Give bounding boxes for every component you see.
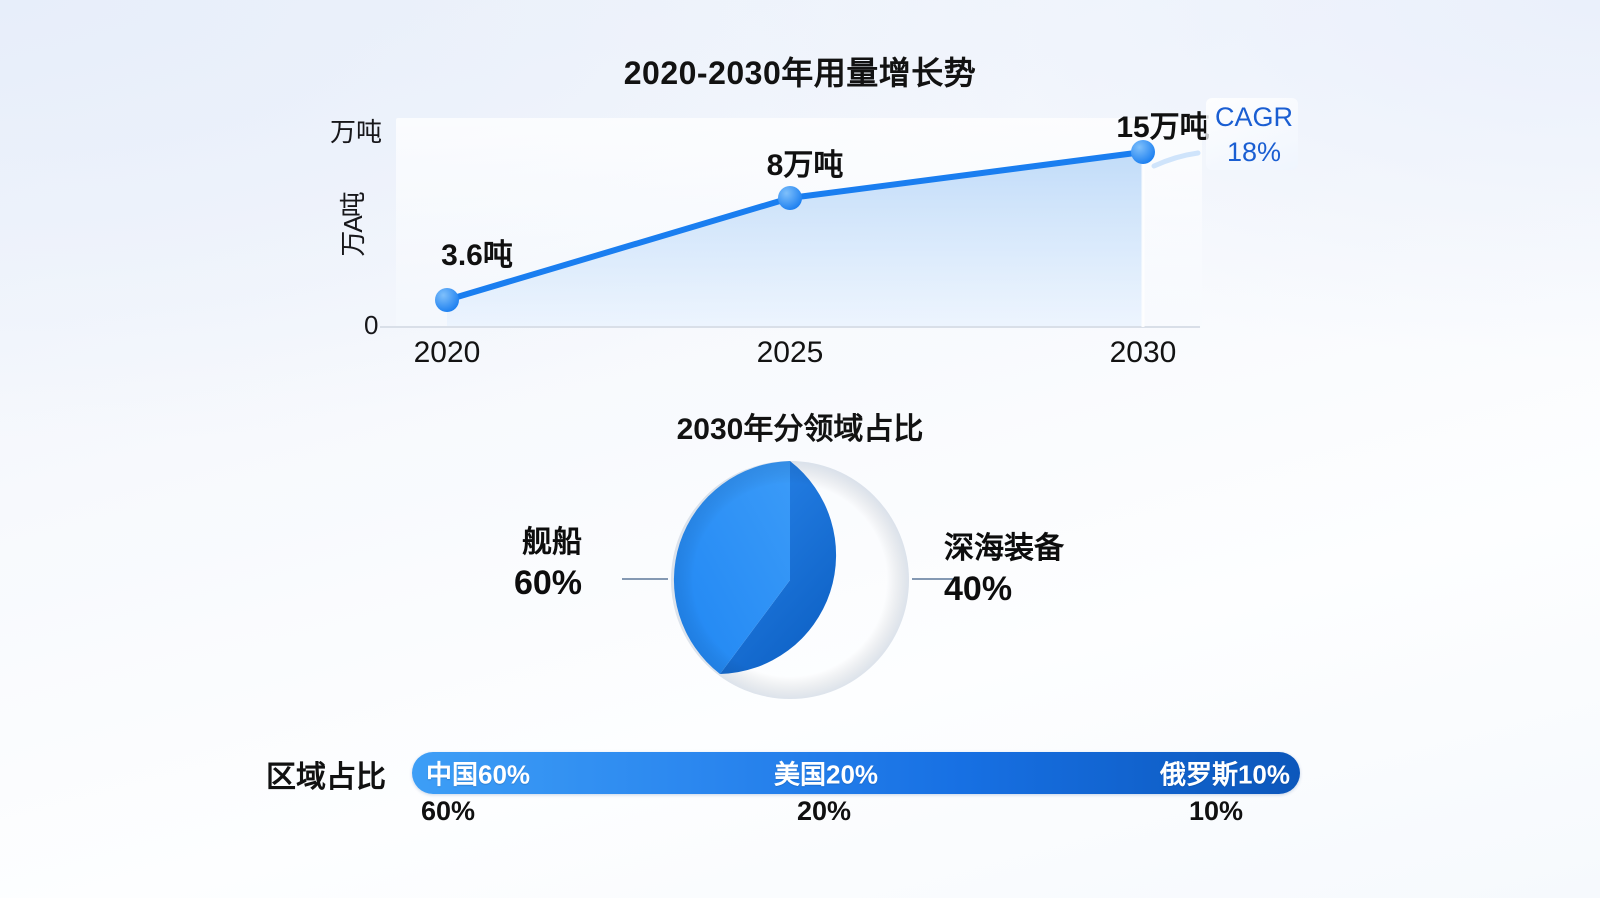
line-chart-title: 2020-2030年用量增长势 [0,48,1600,94]
pie-label-deep-sea-name: 深海装备 [944,528,1064,569]
pie-shading [671,461,909,699]
cagr-label: CAGR [1208,100,1300,135]
data-label-2025: 8万吨 [767,140,844,184]
cagr-value: 18% [1208,135,1300,170]
data-label-2030: 15万吨 [1116,102,1209,146]
pie-chart-title: 2030年分领域占比 [0,404,1600,448]
infographic-canvas: 2020-2030年用量增长势 万吨 万A吨 0 [0,0,1600,898]
pie-chart-svg [668,458,912,702]
x-tick-2020: 2020 [414,336,481,370]
region-segment-usa: 美国20% [774,755,878,792]
region-segment-china: 中国60% [426,755,530,792]
pie-label-ship: 舰船 60% [514,522,582,604]
data-point-2020 [435,288,459,312]
pie-label-ship-value: 60% [514,563,582,604]
region-share-label: 区域占比 [266,752,386,796]
y-axis-unit-label: 万吨 [330,112,382,149]
region-segment-russia: 俄罗斯10% [1160,755,1290,792]
pie-label-ship-name: 舰船 [514,522,582,563]
region-value-usa: 20% [797,796,851,827]
y-axis-title: 万A吨 [333,170,370,280]
x-tick-2025: 2025 [757,336,824,370]
data-point-2025 [778,186,802,210]
accent-swoosh-icon [1154,153,1198,166]
region-value-china: 60% [421,796,475,827]
pie-label-deep-sea: 深海装备 40% [944,528,1064,610]
x-tick-2030: 2030 [1110,336,1177,370]
cagr-badge: CAGR 18% [1208,100,1300,170]
data-label-2020: 3.6吨 [441,230,513,274]
region-share-bar: 中国60% 美国20% 俄罗斯10% [412,752,1300,794]
pie-leader-line-left [622,578,668,580]
region-value-russia: 10% [1189,796,1243,827]
pie-label-deep-sea-value: 40% [944,569,1064,610]
y-axis-zero-tick: 0 [364,310,378,341]
